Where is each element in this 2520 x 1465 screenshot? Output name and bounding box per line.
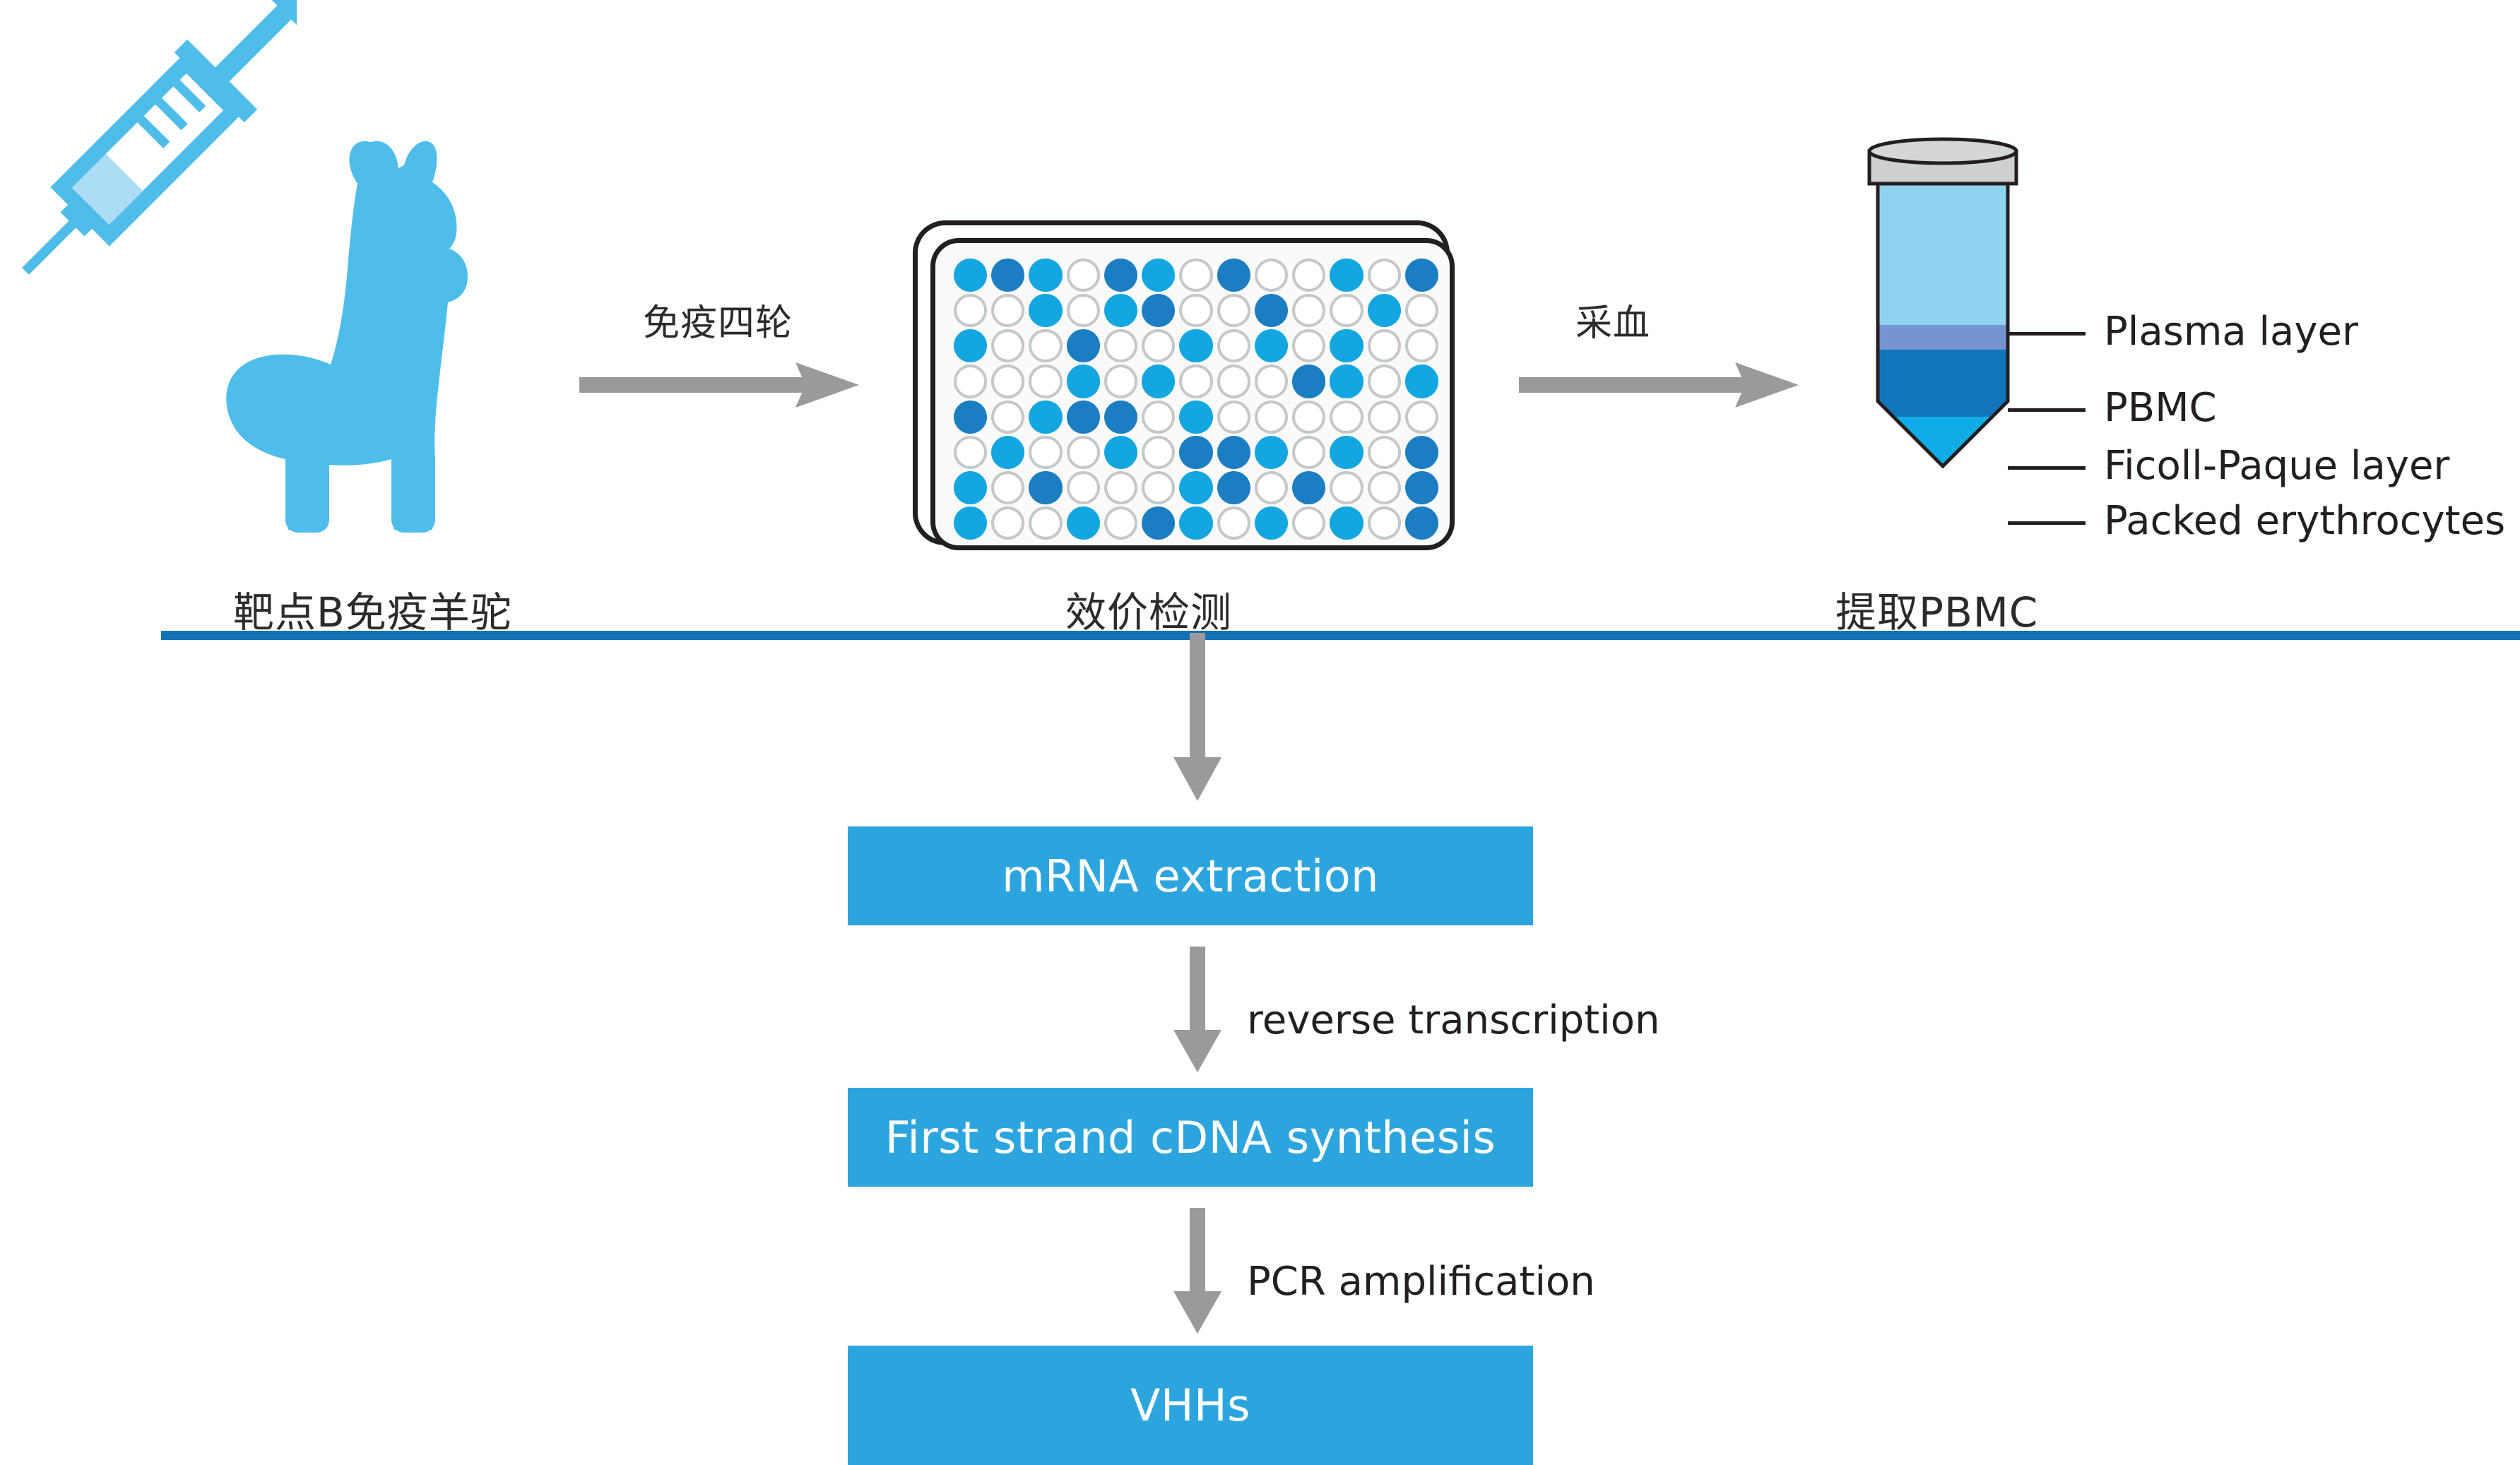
- leader-line-pbmc: [2008, 408, 2086, 412]
- alpaca-icon: [212, 127, 530, 551]
- well-r1-c7: [1179, 259, 1212, 292]
- well-r5-c2: [991, 401, 1024, 434]
- well-r8-c11: [1330, 506, 1363, 540]
- well-r6-c12: [1368, 436, 1401, 469]
- well-r4-c1: [954, 364, 987, 398]
- well-r8-c7: [1179, 506, 1212, 540]
- well-r3-c5: [1104, 329, 1137, 362]
- well-r3-c10: [1292, 329, 1325, 362]
- well-r3-c7: [1179, 329, 1212, 362]
- well-r4-c4: [1067, 364, 1100, 398]
- well-r6-c8: [1217, 436, 1250, 469]
- well-r2-c13: [1405, 294, 1438, 327]
- leader-line-erythrocytes: [2008, 521, 2086, 525]
- well-r8-c3: [1029, 506, 1062, 540]
- well-r3-c3: [1029, 329, 1062, 362]
- well-r5-c8: [1217, 401, 1250, 434]
- well-r6-c13: [1405, 436, 1438, 469]
- well-r1-c13: [1405, 259, 1438, 292]
- well-r1-c5: [1104, 259, 1137, 292]
- well-r3-c1: [954, 329, 987, 362]
- well-r2-c7: [1179, 294, 1212, 327]
- well-r4-c3: [1029, 364, 1062, 398]
- well-r8-c10: [1292, 506, 1325, 540]
- well-r8-c6: [1142, 506, 1175, 540]
- well-r8-c4: [1067, 506, 1100, 540]
- layer-label-plasma: Plasma layer: [2104, 309, 2358, 355]
- well-r3-c13: [1405, 329, 1438, 362]
- step-box-mrna-extraction[interactable]: mRNA extraction: [848, 826, 1533, 925]
- well-r3-c8: [1217, 329, 1250, 362]
- step-label: VHHs: [1130, 1380, 1250, 1431]
- well-r5-c12: [1368, 401, 1401, 434]
- well-r6-c1: [954, 436, 987, 469]
- well-r4-c6: [1142, 364, 1175, 398]
- well-r4-c5: [1104, 364, 1137, 398]
- arrow-down-icon: [1169, 947, 1226, 1074]
- well-r4-c9: [1255, 364, 1288, 398]
- well-r3-c12: [1368, 329, 1401, 362]
- well-r7-c13: [1405, 471, 1438, 504]
- well-r2-c12: [1368, 294, 1401, 327]
- well-r4-c7: [1179, 364, 1212, 398]
- arrow-right-icon: [579, 357, 862, 413]
- well-r3-c2: [991, 329, 1024, 362]
- well-r5-c4: [1067, 401, 1100, 434]
- well-r5-c5: [1104, 401, 1137, 434]
- arrow-down-icon: [1169, 633, 1226, 802]
- alpaca-caption: 靶点B免疫羊驼: [233, 579, 512, 639]
- well-r1-c9: [1255, 259, 1288, 292]
- well-r6-c2: [991, 436, 1024, 469]
- centrifuge-tube-icon: [1851, 134, 2077, 544]
- well-r6-c5: [1104, 436, 1137, 469]
- well-r5-c3: [1029, 401, 1062, 434]
- well-r8-c8: [1217, 506, 1250, 540]
- well-r2-c1: [954, 294, 987, 327]
- section-divider: [161, 631, 2520, 640]
- well-r1-c10: [1292, 259, 1325, 292]
- arrow2-label: 采血: [1575, 293, 1650, 346]
- layer-label-erythrocytes: Packed erythrocytes: [2104, 498, 2505, 544]
- well-r8-c13: [1405, 506, 1438, 540]
- well-r6-c4: [1067, 436, 1100, 469]
- leader-line-plasma: [2008, 332, 2086, 336]
- microplate-icon: [913, 220, 1450, 545]
- well-r5-c1: [954, 401, 987, 434]
- well-r7-c12: [1368, 471, 1401, 504]
- well-r8-c12: [1368, 506, 1401, 540]
- well-r5-c13: [1405, 401, 1438, 434]
- plate-caption: 效价检测: [1065, 579, 1232, 639]
- well-r5-c9: [1255, 401, 1288, 434]
- well-r5-c7: [1179, 401, 1212, 434]
- well-grid: [954, 259, 1438, 540]
- well-r7-c5: [1104, 471, 1137, 504]
- well-r5-c10: [1292, 401, 1325, 434]
- workflow-diagram: 靶点B免疫羊驼 免疫四轮 效价检测 采血: [0, 0, 2520, 1465]
- well-r1-c1: [954, 259, 987, 292]
- well-r2-c3: [1029, 294, 1062, 327]
- well-r7-c7: [1179, 471, 1212, 504]
- well-r6-c9: [1255, 436, 1288, 469]
- layer-label-pbmc: PBMC: [2104, 385, 2217, 431]
- arrow-down-icon: [1169, 1208, 1226, 1335]
- well-r6-c11: [1330, 436, 1363, 469]
- well-r7-c2: [991, 471, 1024, 504]
- well-r6-c7: [1179, 436, 1212, 469]
- well-r6-c3: [1029, 436, 1062, 469]
- well-r4-c2: [991, 364, 1024, 398]
- well-r7-c4: [1067, 471, 1100, 504]
- well-r2-c5: [1104, 294, 1137, 327]
- well-r7-c6: [1142, 471, 1175, 504]
- well-r3-c9: [1255, 329, 1288, 362]
- well-r4-c12: [1368, 364, 1401, 398]
- well-r8-c1: [954, 506, 987, 540]
- well-r7-c3: [1029, 471, 1062, 504]
- well-r1-c11: [1330, 259, 1363, 292]
- well-r8-c5: [1104, 506, 1137, 540]
- well-r2-c8: [1217, 294, 1250, 327]
- well-r6-c10: [1292, 436, 1325, 469]
- well-r6-c6: [1142, 436, 1175, 469]
- well-r4-c13: [1405, 364, 1438, 398]
- well-r1-c3: [1029, 259, 1062, 292]
- well-r4-c10: [1292, 364, 1325, 398]
- step-box-vhhs[interactable]: VHHs: [848, 1346, 1533, 1465]
- well-r4-c11: [1330, 364, 1363, 398]
- well-r2-c4: [1067, 294, 1100, 327]
- well-r7-c11: [1330, 471, 1363, 504]
- well-r3-c11: [1330, 329, 1363, 362]
- well-r8-c9: [1255, 506, 1288, 540]
- well-r3-c4: [1067, 329, 1100, 362]
- transition-label-reverse-transcription: reverse transcription: [1247, 997, 1660, 1043]
- well-r1-c8: [1217, 259, 1250, 292]
- well-r7-c8: [1217, 471, 1250, 504]
- well-r2-c9: [1255, 294, 1288, 327]
- well-r2-c10: [1292, 294, 1325, 327]
- well-r5-c6: [1142, 401, 1175, 434]
- well-r4-c8: [1217, 364, 1250, 398]
- well-r1-c2: [991, 259, 1024, 292]
- arrow1-label: 免疫四轮: [643, 293, 793, 346]
- well-r5-c11: [1330, 401, 1363, 434]
- leader-line-ficoll: [2008, 466, 2086, 470]
- well-r1-c12: [1368, 259, 1401, 292]
- tube-caption: 提取PBMC: [1835, 579, 2038, 639]
- well-r3-c6: [1142, 329, 1175, 362]
- well-r7-c9: [1255, 471, 1288, 504]
- transition-label-pcr-amplification: PCR amplification: [1247, 1259, 1595, 1305]
- well-r1-c6: [1142, 259, 1175, 292]
- well-r1-c4: [1067, 259, 1100, 292]
- well-r2-c2: [991, 294, 1024, 327]
- step-label: mRNA extraction: [1002, 850, 1379, 902]
- step-label: First strand cDNA synthesis: [885, 1112, 1496, 1163]
- well-r2-c6: [1142, 294, 1175, 327]
- well-r7-c1: [954, 471, 987, 504]
- arrow-right-icon: [1519, 357, 1802, 413]
- well-r7-c10: [1292, 471, 1325, 504]
- well-r2-c11: [1330, 294, 1363, 327]
- step-box-first-strand-cdna-synthesis[interactable]: First strand cDNA synthesis: [848, 1088, 1533, 1187]
- layer-label-ficoll: Ficoll-Paque layer: [2104, 443, 2449, 489]
- well-r8-c2: [991, 506, 1024, 540]
